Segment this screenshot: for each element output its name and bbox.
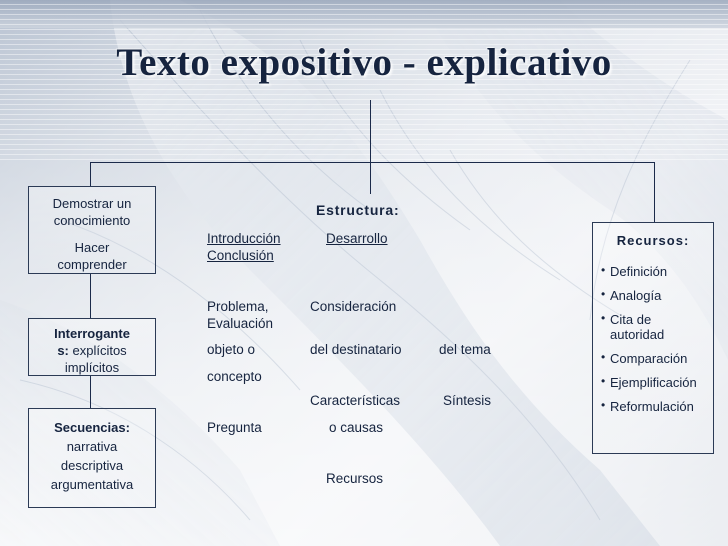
box-demostrar-line-1: Demostrar un bbox=[29, 195, 155, 212]
list-item: Ejemplificación bbox=[601, 375, 707, 390]
connector-left-chain-2 bbox=[90, 376, 91, 408]
box-demostrar-line-2: conocimiento bbox=[29, 212, 155, 229]
connector-left-down bbox=[90, 162, 91, 187]
box-secuencias-line-3: argumentativa bbox=[29, 475, 155, 494]
box-interrogantes-heading-tail: s: bbox=[57, 343, 69, 358]
estructura-col-header-introduccion: Introducción bbox=[207, 230, 281, 247]
box-secuencias-heading: Secuencias: bbox=[29, 418, 155, 437]
estructura-cell-evaluacion: Evaluación bbox=[207, 315, 273, 332]
estructura-cell-objeto: objeto o bbox=[207, 341, 255, 358]
box-recursos-title: Recursos: bbox=[593, 233, 713, 248]
box-secuencias-line-2: descriptiva bbox=[29, 456, 155, 475]
box-demostrar-line-4: comprender bbox=[29, 256, 155, 273]
estructura-cell-del-tema: del tema bbox=[439, 341, 491, 358]
box-interrogantes-heading: Interrogante bbox=[54, 326, 130, 341]
connector-horizontal-main bbox=[90, 162, 655, 163]
top-band bbox=[0, 0, 728, 28]
estructura-cell-caracteristicas: Características bbox=[310, 392, 400, 409]
list-item: Comparación bbox=[601, 351, 707, 366]
box-interrogantes-line-1: Interrogante bbox=[29, 325, 155, 342]
list-item: Reformulación bbox=[601, 399, 707, 414]
estructura-title: Estructura: bbox=[316, 202, 399, 218]
estructura-cell-conclusion: Conclusión bbox=[207, 247, 274, 264]
connector-center-down bbox=[370, 162, 371, 194]
box-interrogantes-line-3: implícitos bbox=[29, 359, 155, 376]
connector-right-down bbox=[654, 162, 655, 222]
estructura-cell-problema: Problema, bbox=[207, 298, 269, 315]
box-demostrar-line-3: Hacer bbox=[29, 239, 155, 256]
estructura-cell-sintesis: Síntesis bbox=[443, 392, 491, 409]
list-item: Cita de autoridad bbox=[601, 312, 707, 342]
connector-title-down bbox=[370, 100, 371, 162]
estructura-cell-consideracion: Consideración bbox=[310, 298, 396, 315]
box-secuencias[interactable]: Secuencias: narrativa descriptiva argume… bbox=[28, 408, 156, 508]
estructura-cell-pregunta: Pregunta bbox=[207, 419, 262, 436]
slide-canvas: Texto expositivo - explicativo Demostrar… bbox=[0, 0, 728, 546]
box-demostrar-conocimiento[interactable]: Demostrar un conocimiento Hacer comprend… bbox=[28, 186, 156, 274]
box-interrogantes-explicitos: explícitos bbox=[69, 343, 127, 358]
recursos-list: Definición Analogía Cita de autoridad Co… bbox=[593, 264, 713, 414]
box-recursos[interactable]: Recursos: Definición Analogía Cita de au… bbox=[592, 222, 714, 454]
estructura-cell-o-causas: o causas bbox=[329, 419, 383, 436]
connector-left-chain-1 bbox=[90, 274, 91, 318]
estructura-cell-concepto: concepto bbox=[207, 368, 262, 385]
page-title: Texto expositivo - explicativo bbox=[0, 40, 728, 85]
box-secuencias-line-1: narrativa bbox=[29, 437, 155, 456]
estructura-col-header-desarrollo: Desarrollo bbox=[326, 230, 388, 247]
box-interrogantes-line-2: s: explícitos bbox=[29, 342, 155, 359]
list-item: Definición bbox=[601, 264, 707, 279]
estructura-cell-destinatario: del destinatario bbox=[310, 341, 402, 358]
estructura-cell-recursos: Recursos bbox=[326, 470, 383, 487]
box-interrogantes[interactable]: Interrogante s: explícitos implícitos bbox=[28, 318, 156, 376]
list-item: Analogía bbox=[601, 288, 707, 303]
